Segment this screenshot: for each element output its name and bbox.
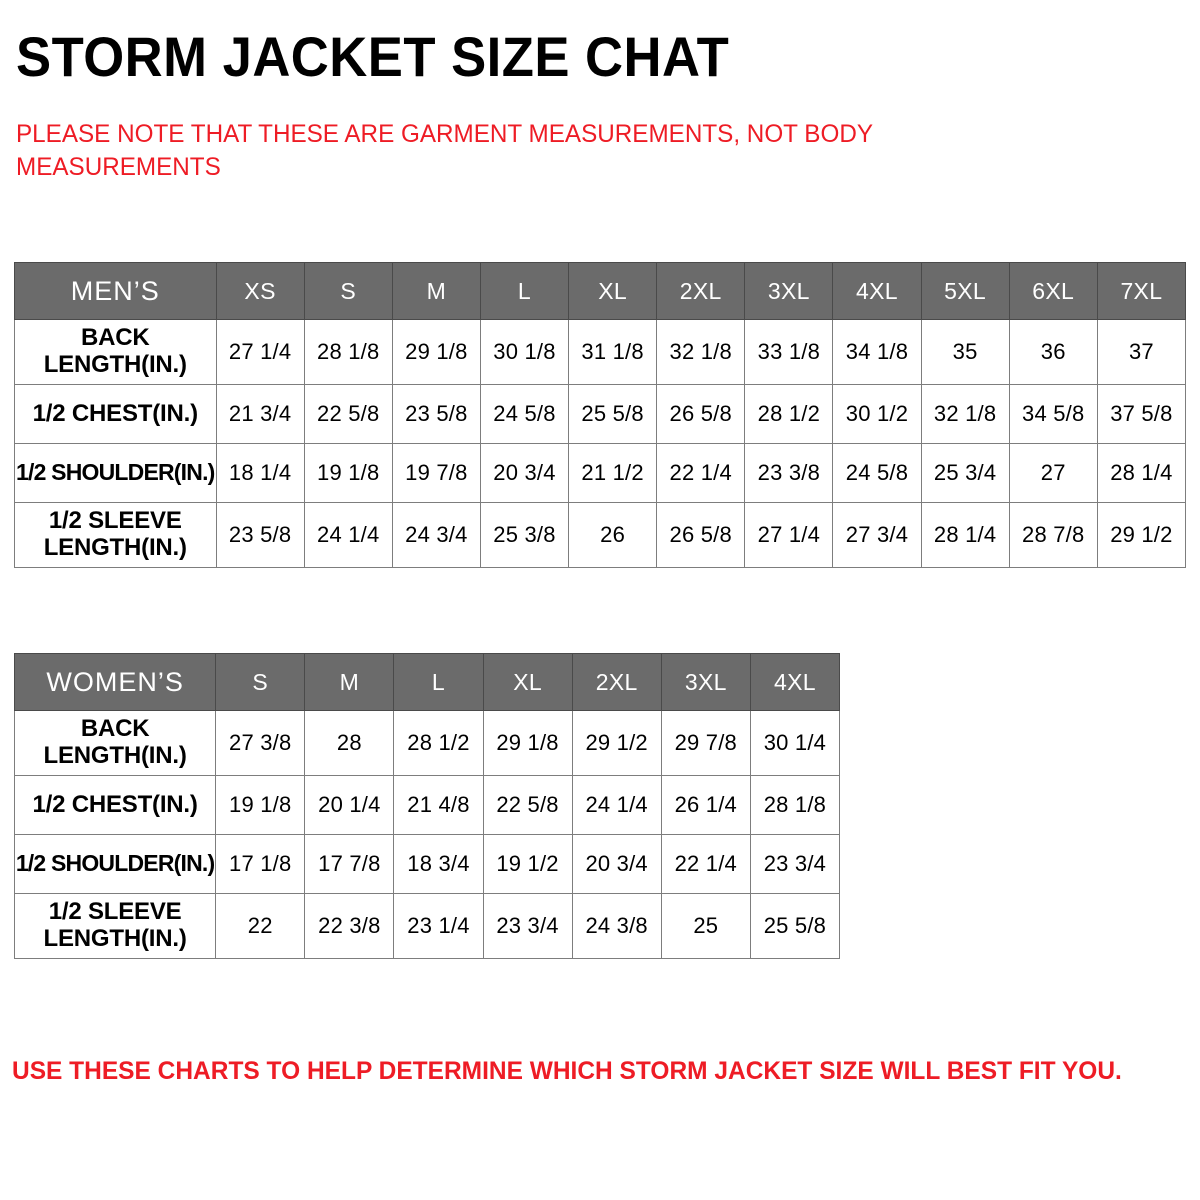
womens-measure-cell: 29 1/8 [483, 711, 572, 776]
womens-table-row: 1/2 SHOULDER(IN.)17 1/817 7/818 3/419 1/… [15, 835, 840, 894]
mens-size-header-l: L [480, 263, 568, 320]
womens-table-row: BACKLENGTH(IN.)27 3/82828 1/229 1/829 1/… [15, 711, 840, 776]
womens-measure-cell: 22 1/4 [661, 835, 750, 894]
mens-size-table-container: MEN’SXSSMLXL2XL3XL4XL5XL6XL7XL BACKLENGT… [14, 262, 1186, 568]
womens-size-header-3xl: 3XL [661, 654, 750, 711]
mens-measure-cell: 25 3/4 [921, 444, 1009, 503]
mens-size-header-6xl: 6XL [1009, 263, 1097, 320]
mens-measure-cell: 26 [569, 503, 657, 568]
mens-measure-cell: 37 [1097, 320, 1185, 385]
womens-measure-cell: 21 4/8 [394, 776, 483, 835]
help-determine-size-note: USE THESE CHARTS TO HELP DETERMINE WHICH… [12, 1057, 1168, 1086]
womens-measure-cell: 28 1/8 [750, 776, 839, 835]
womens-measure-cell: 19 1/8 [216, 776, 305, 835]
mens-measure-cell: 30 1/2 [833, 385, 921, 444]
mens-measure-cell: 21 3/4 [216, 385, 304, 444]
womens-measure-cell: 28 1/2 [394, 711, 483, 776]
womens-measure-cell: 23 3/4 [483, 894, 572, 959]
womens-table-body: BACKLENGTH(IN.)27 3/82828 1/229 1/829 1/… [15, 711, 840, 959]
womens-measure-cell: 22 [216, 894, 305, 959]
womens-measure-cell: 27 3/8 [216, 711, 305, 776]
mens-size-header-2xl: 2XL [657, 263, 745, 320]
womens-measure-cell: 20 1/4 [305, 776, 394, 835]
womens-measure-cell: 17 1/8 [216, 835, 305, 894]
mens-size-header-xl: XL [569, 263, 657, 320]
mens-measure-cell: 24 1/4 [304, 503, 392, 568]
womens-measure-cell: 23 3/4 [750, 835, 839, 894]
womens-table-head: WOMEN’SSMLXL2XL3XL4XL [15, 654, 840, 711]
womens-size-header-m: M [305, 654, 394, 711]
womens-row-label: 1/2 CHEST(IN.) [15, 776, 216, 835]
womens-size-header-xl: XL [483, 654, 572, 711]
mens-measure-cell: 27 3/4 [833, 503, 921, 568]
mens-measure-cell: 20 3/4 [480, 444, 568, 503]
womens-measure-cell: 26 1/4 [661, 776, 750, 835]
mens-table-row: BACKLENGTH(IN.)27 1/428 1/829 1/830 1/83… [15, 320, 1186, 385]
womens-measure-cell: 17 7/8 [305, 835, 394, 894]
mens-measure-cell: 27 1/4 [745, 503, 833, 568]
mens-measure-cell: 24 5/8 [480, 385, 568, 444]
mens-measure-cell: 21 1/2 [569, 444, 657, 503]
womens-size-header-4xl: 4XL [750, 654, 839, 711]
mens-measure-cell: 24 3/4 [392, 503, 480, 568]
mens-measure-cell: 30 1/8 [480, 320, 568, 385]
mens-measure-cell: 19 7/8 [392, 444, 480, 503]
mens-measure-cell: 29 1/8 [392, 320, 480, 385]
womens-measure-cell: 23 1/4 [394, 894, 483, 959]
mens-measure-cell: 19 1/8 [304, 444, 392, 503]
womens-corner-header: WOMEN’S [15, 654, 216, 711]
size-chart-page: STORM JACKET SIZE CHAT PLEASE NOTE THAT … [0, 0, 1200, 1200]
page-title: STORM JACKET SIZE CHAT [16, 24, 729, 89]
mens-measure-cell: 28 7/8 [1009, 503, 1097, 568]
womens-measure-cell: 18 3/4 [394, 835, 483, 894]
womens-measure-cell: 19 1/2 [483, 835, 572, 894]
mens-corner-header: MEN’S [15, 263, 217, 320]
womens-measure-cell: 24 3/8 [572, 894, 661, 959]
womens-row-label: BACKLENGTH(IN.) [15, 711, 216, 776]
womens-measure-cell: 22 5/8 [483, 776, 572, 835]
mens-size-header-s: S [304, 263, 392, 320]
mens-table-row: 1/2 CHEST(IN.)21 3/422 5/823 5/824 5/825… [15, 385, 1186, 444]
womens-measure-cell: 25 5/8 [750, 894, 839, 959]
mens-measure-cell: 33 1/8 [745, 320, 833, 385]
mens-measure-cell: 25 3/8 [480, 503, 568, 568]
mens-table-row: 1/2 SHOULDER(IN.)18 1/419 1/819 7/820 3/… [15, 444, 1186, 503]
mens-row-label: 1/2 SLEEVELENGTH(IN.) [15, 503, 217, 568]
mens-measure-cell: 26 5/8 [657, 385, 745, 444]
mens-size-header-m: M [392, 263, 480, 320]
mens-row-label: 1/2 SHOULDER(IN.) [15, 444, 217, 503]
mens-measure-cell: 18 1/4 [216, 444, 304, 503]
mens-table-row: 1/2 SLEEVELENGTH(IN.)23 5/824 1/424 3/42… [15, 503, 1186, 568]
mens-size-table: MEN’SXSSMLXL2XL3XL4XL5XL6XL7XL BACKLENGT… [14, 262, 1186, 568]
womens-measure-cell: 29 7/8 [661, 711, 750, 776]
mens-size-header-5xl: 5XL [921, 263, 1009, 320]
mens-size-header-xs: XS [216, 263, 304, 320]
womens-measure-cell: 28 [305, 711, 394, 776]
mens-measure-cell: 29 1/2 [1097, 503, 1185, 568]
mens-measure-cell: 37 5/8 [1097, 385, 1185, 444]
mens-size-header-7xl: 7XL [1097, 263, 1185, 320]
mens-measure-cell: 27 [1009, 444, 1097, 503]
mens-measure-cell: 22 5/8 [304, 385, 392, 444]
mens-measure-cell: 28 1/4 [1097, 444, 1185, 503]
womens-measure-cell: 25 [661, 894, 750, 959]
mens-measure-cell: 32 1/8 [657, 320, 745, 385]
womens-table-row: 1/2 CHEST(IN.)19 1/820 1/421 4/822 5/824… [15, 776, 840, 835]
mens-measure-cell: 27 1/4 [216, 320, 304, 385]
womens-measure-cell: 20 3/4 [572, 835, 661, 894]
mens-measure-cell: 22 1/4 [657, 444, 745, 503]
mens-measure-cell: 35 [921, 320, 1009, 385]
mens-measure-cell: 34 5/8 [1009, 385, 1097, 444]
mens-measure-cell: 26 5/8 [657, 503, 745, 568]
mens-measure-cell: 23 3/8 [745, 444, 833, 503]
mens-measure-cell: 23 5/8 [392, 385, 480, 444]
womens-size-table-container: WOMEN’SSMLXL2XL3XL4XL BACKLENGTH(IN.)27 … [14, 653, 840, 959]
mens-measure-cell: 31 1/8 [569, 320, 657, 385]
mens-measure-cell: 28 1/2 [745, 385, 833, 444]
womens-measure-cell: 30 1/4 [750, 711, 839, 776]
mens-measure-cell: 28 1/8 [304, 320, 392, 385]
womens-size-table: WOMEN’SSMLXL2XL3XL4XL BACKLENGTH(IN.)27 … [14, 653, 840, 959]
mens-header-row: MEN’SXSSMLXL2XL3XL4XL5XL6XL7XL [15, 263, 1186, 320]
mens-row-label: BACKLENGTH(IN.) [15, 320, 217, 385]
womens-header-row: WOMEN’SSMLXL2XL3XL4XL [15, 654, 840, 711]
mens-measure-cell: 25 5/8 [569, 385, 657, 444]
mens-measure-cell: 23 5/8 [216, 503, 304, 568]
womens-table-row: 1/2 SLEEVELENGTH(IN.)2222 3/823 1/423 3/… [15, 894, 840, 959]
mens-size-header-3xl: 3XL [745, 263, 833, 320]
mens-measure-cell: 36 [1009, 320, 1097, 385]
womens-measure-cell: 22 3/8 [305, 894, 394, 959]
womens-measure-cell: 24 1/4 [572, 776, 661, 835]
womens-row-label: 1/2 SHOULDER(IN.) [15, 835, 216, 894]
garment-measurement-note: PLEASE NOTE THAT THESE ARE GARMENT MEASU… [16, 118, 947, 184]
mens-size-header-4xl: 4XL [833, 263, 921, 320]
womens-measure-cell: 29 1/2 [572, 711, 661, 776]
womens-row-label: 1/2 SLEEVELENGTH(IN.) [15, 894, 216, 959]
womens-size-header-2xl: 2XL [572, 654, 661, 711]
mens-measure-cell: 32 1/8 [921, 385, 1009, 444]
womens-size-header-l: L [394, 654, 483, 711]
mens-table-body: BACKLENGTH(IN.)27 1/428 1/829 1/830 1/83… [15, 320, 1186, 568]
mens-measure-cell: 24 5/8 [833, 444, 921, 503]
mens-row-label: 1/2 CHEST(IN.) [15, 385, 217, 444]
womens-size-header-s: S [216, 654, 305, 711]
mens-measure-cell: 34 1/8 [833, 320, 921, 385]
mens-measure-cell: 28 1/4 [921, 503, 1009, 568]
mens-table-head: MEN’SXSSMLXL2XL3XL4XL5XL6XL7XL [15, 263, 1186, 320]
